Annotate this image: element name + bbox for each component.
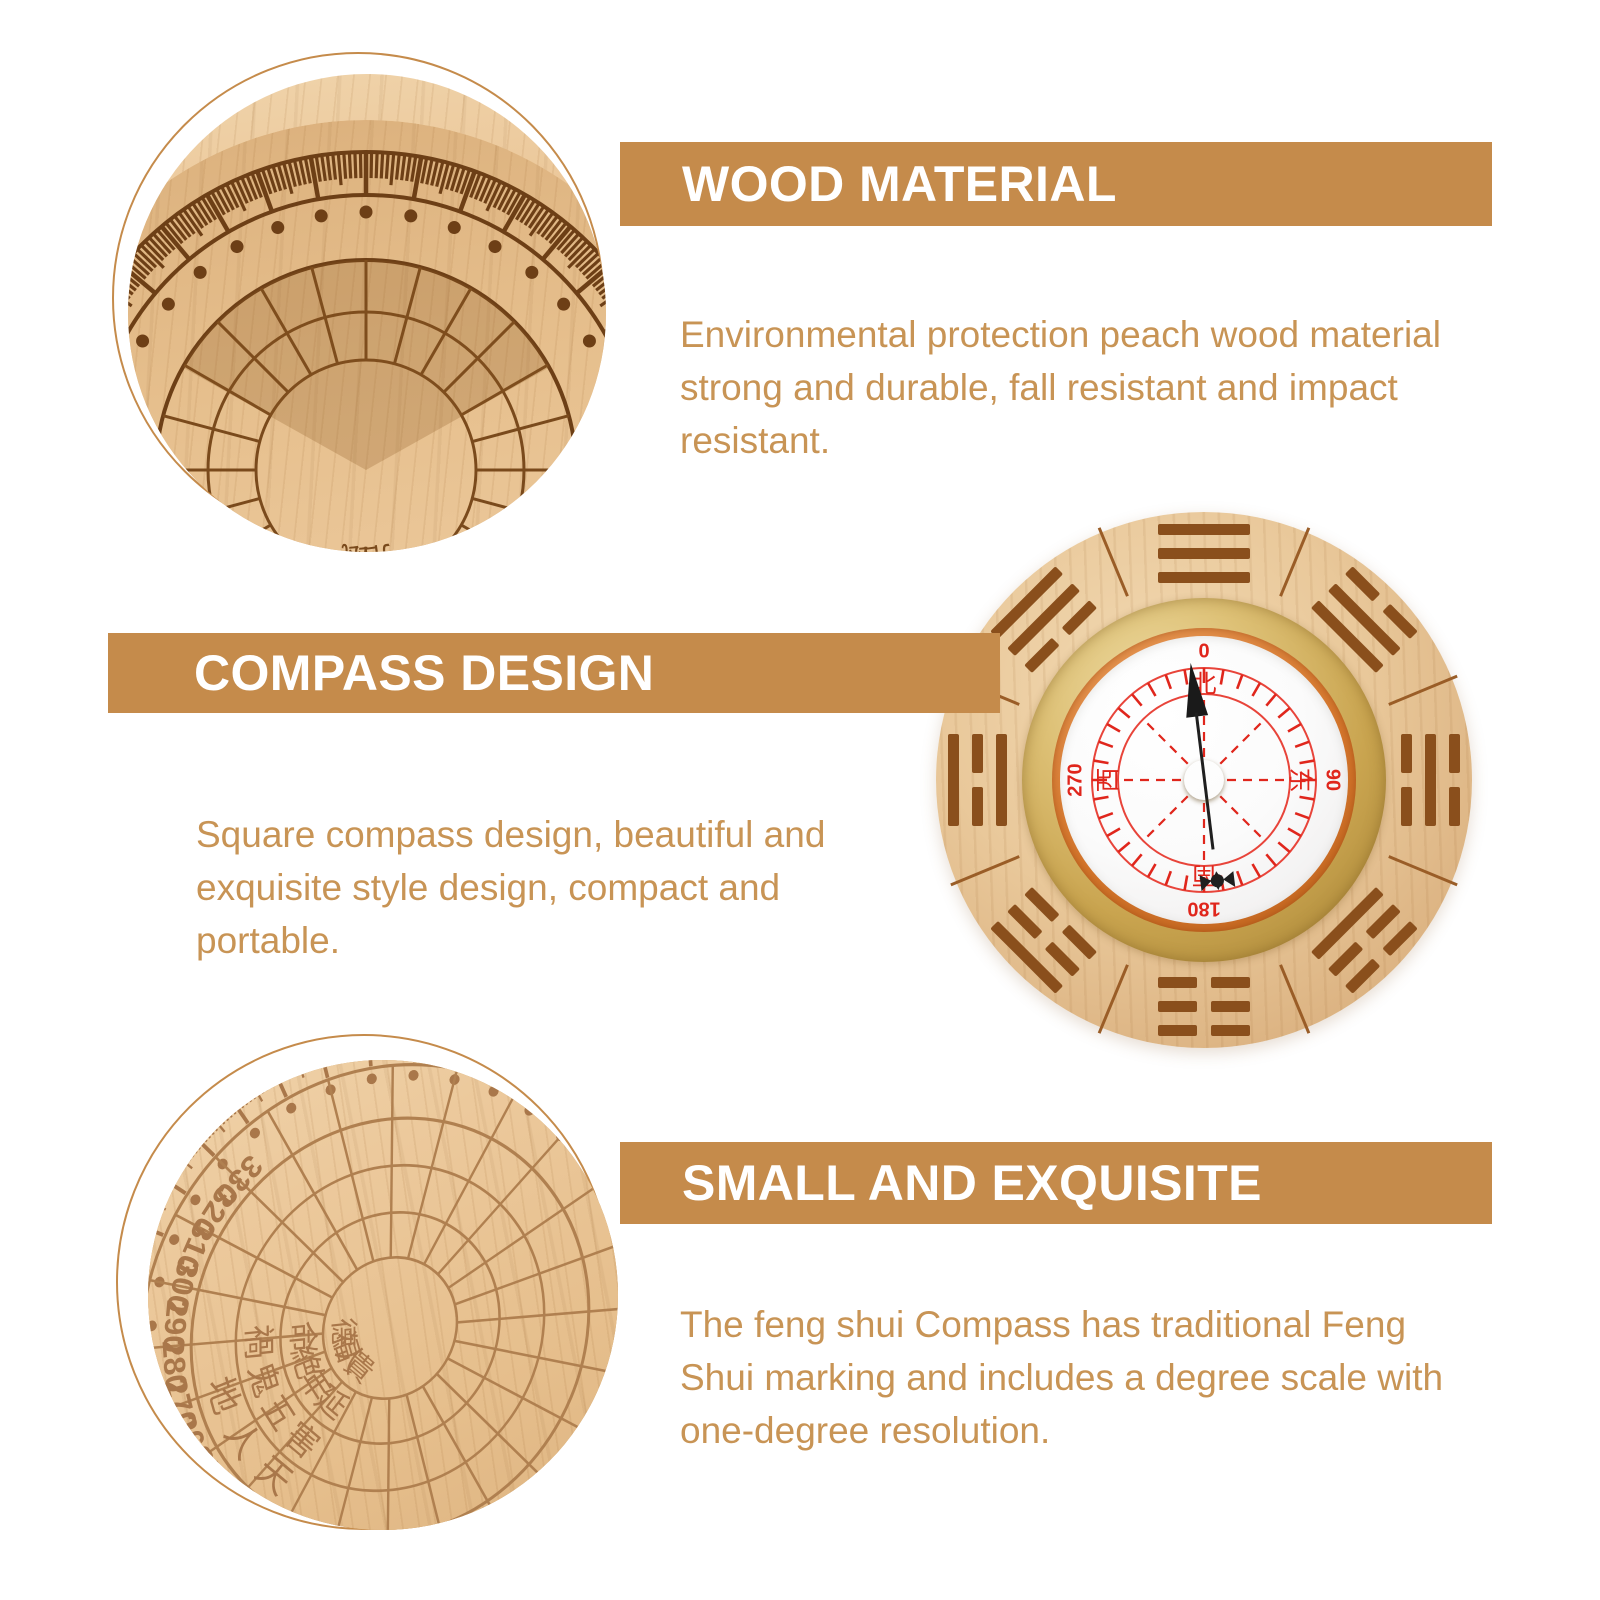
section-title: SMALL AND EXQUISITE xyxy=(682,1154,1262,1212)
section-body-compass-design: Square compass design, beautiful and exq… xyxy=(196,809,916,968)
section-title: COMPASS DESIGN xyxy=(194,644,654,702)
infographic-page: 3303403500102030 己乙丑辰乙壬子癸猪鼠 WOOD MATERIA… xyxy=(0,0,1600,1600)
trigram-bar-solid xyxy=(1158,548,1250,559)
trigram-bar-solid xyxy=(1425,734,1436,826)
glyph-label: 禍 xyxy=(242,1323,275,1360)
trigram-kun xyxy=(1158,976,1250,1036)
compass-disc-tilted: 230240250260270280290300310320330 天人地害五鬼… xyxy=(148,1060,618,1530)
trigram-sector-divider xyxy=(1421,689,1423,692)
glyph-label: 南 xyxy=(1191,864,1216,889)
glyph-label: 北 xyxy=(1191,672,1216,697)
trigram-bar-broken xyxy=(1158,1025,1250,1036)
trigram-sector-divider xyxy=(1293,997,1296,999)
trigram-bar-broken xyxy=(1345,921,1418,994)
trigram-bar-solid xyxy=(1158,524,1250,535)
trigram-bar-broken xyxy=(972,734,983,826)
section-header-band-wood-material: WOOD MATERIAL xyxy=(620,142,1492,226)
section-body-wood-material: Environmental protection peach wood mate… xyxy=(680,309,1470,468)
brass-bezel: 090180270 北东南西 xyxy=(1022,598,1386,962)
glyph-label: 东 xyxy=(1288,767,1313,792)
trigram-bar-broken xyxy=(1158,977,1250,988)
trigram-sector-divider xyxy=(1112,997,1115,999)
trigram-bar-solid xyxy=(948,734,959,826)
product-photo-tilted-disc: 230240250260270280290300310320330 天人地害五鬼… xyxy=(148,1060,618,1530)
compass-disc-inverted: 3303403500102030 己乙丑辰乙壬子癸猪鼠 xyxy=(128,120,606,552)
section-body-small-exquisite: The feng shui Compass has traditional Fe… xyxy=(680,1299,1470,1458)
trigram-qian xyxy=(1158,524,1250,584)
trigram-kan xyxy=(1400,734,1460,826)
degree-label: 0 xyxy=(1198,641,1209,664)
trigram-li xyxy=(948,734,1008,826)
trigram-bar-broken xyxy=(1401,734,1412,826)
glyph-label: 命 xyxy=(285,1320,316,1355)
section-header-band-compass-design: COMPASS DESIGN xyxy=(108,633,1000,713)
copper-glass-ring: 090180270 北东南西 xyxy=(1052,628,1356,932)
compass-dial: 090180270 北东南西 xyxy=(1060,636,1348,924)
glyph-label: 西 xyxy=(1096,767,1121,792)
degree-label: 270 xyxy=(1065,763,1088,796)
glyph-label: 鼠 xyxy=(338,540,373,552)
trigram-bar-broken xyxy=(1449,734,1460,826)
section-title: WOOD MATERIAL xyxy=(682,155,1117,213)
trigram-sector-divider xyxy=(1112,561,1115,563)
trigram-bar-solid xyxy=(996,734,1007,826)
product-photo-brass-compass: 090180270 北东南西 xyxy=(936,512,1472,1048)
glyph-label: 德 xyxy=(329,1316,358,1349)
needle-pivot-cap xyxy=(1184,760,1224,800)
trigram-bar-broken xyxy=(1158,1001,1250,1012)
section-header-band-small-exquisite: SMALL AND EXQUISITE xyxy=(620,1142,1492,1224)
trigram-bar-solid xyxy=(1158,572,1250,583)
trigram-sector-divider xyxy=(1421,869,1423,872)
product-photo-degree-ring: 3303403500102030 己乙丑辰乙壬子癸猪鼠 xyxy=(128,74,606,552)
trigram-sector-divider xyxy=(1293,561,1296,563)
degree-label: 180 xyxy=(1187,897,1220,920)
degree-label: 90 xyxy=(1321,769,1344,791)
